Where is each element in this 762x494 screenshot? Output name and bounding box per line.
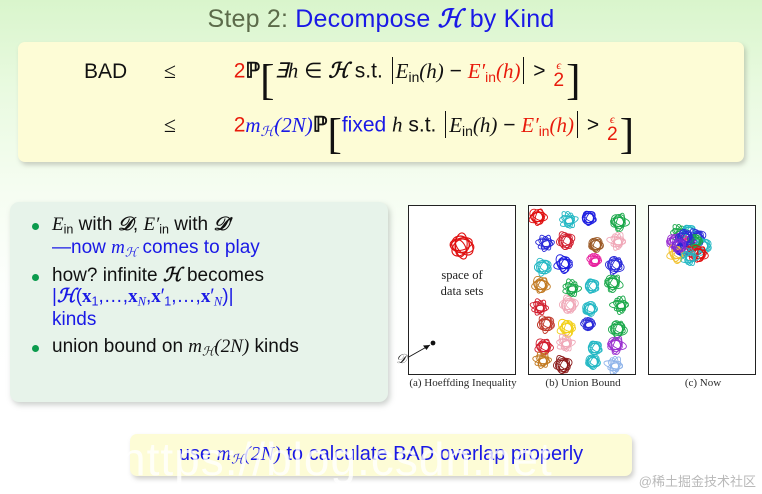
figure-b-box <box>528 205 636 375</box>
bullet-2-formula: |ℋ(x1,…,xN,x′1,…,x′N)| <box>52 286 378 309</box>
coefficient-1: 2 <box>234 60 246 83</box>
bullet-2-kinds: kinds <box>52 309 378 330</box>
title-step: Step 2: <box>208 5 289 33</box>
list-item: union bound on mℋ(2N) kinds <box>30 336 378 359</box>
figure-b-caption: (b) Union Bound <box>528 377 638 389</box>
figure-c-box <box>648 205 756 375</box>
equation-line-1: BAD ≤ 2ℙ[∃h ∈ ℋ s.t. Ein(h) − E′in(h) > … <box>84 56 581 105</box>
spacer-label <box>84 114 158 138</box>
page-title: Step 2: Decompose ℋ by Kind <box>0 4 762 34</box>
equation-panel: BAD ≤ 2ℙ[∃h ∈ ℋ s.t. Ein(h) − E′in(h) > … <box>18 42 744 162</box>
probability-symbol-2: ℙ <box>313 113 328 137</box>
title-main: Decompose ℋ by Kind <box>295 5 554 33</box>
dataset-d-prime: 𝒟′ <box>213 214 234 235</box>
dataset-d: 𝒟 <box>118 214 133 235</box>
figure-c-caption: (c) Now <box>648 377 758 389</box>
growth-function-inline: mℋ <box>111 237 137 258</box>
e-in-symbol: Ein <box>52 214 73 235</box>
abs-bar-open-2 <box>445 111 446 137</box>
figure-c: (c) Now <box>648 205 758 375</box>
minus-sign-2: − <box>503 114 515 137</box>
list-item: Ein with 𝒟, E′in with 𝒟′ —now mℋ comes t… <box>30 214 378 259</box>
figure-a-inner-text: space of data sets <box>409 268 515 299</box>
growth-function-summary: mℋ(2N) <box>217 443 281 465</box>
bullet-panel: Ein with 𝒟, E′in with 𝒟′ —now mℋ comes t… <box>10 202 388 402</box>
figure-strip: space of data sets (a) Hoeffding Inequal… <box>396 205 762 395</box>
fixed-keyword: fixed <box>342 114 386 137</box>
figure-a-caption: (a) Hoeffding Inequality <box>408 377 518 389</box>
figure-c-svg <box>649 206 755 374</box>
slide-canvas: Step 2: Decompose ℋ by Kind BAD ≤ 2ℙ[∃h … <box>0 0 762 494</box>
list-item: how? infinite ℋ becomes |ℋ(x1,…,xN,x′1,…… <box>30 265 378 330</box>
growth-function-2: mℋ(2N) <box>245 113 312 137</box>
epsilon-over-two-1: ϵ2 <box>551 59 566 90</box>
figure-a: space of data sets (a) Hoeffding Inequal… <box>408 205 518 375</box>
quantifier-1: ∃h <box>274 59 298 83</box>
bullet-list: Ein with 𝒟, E′in with 𝒟′ —now mℋ comes t… <box>10 202 388 359</box>
minus-sign-1: − <box>450 60 462 83</box>
bullet-2-text: how? infinite ℋ becomes <box>52 265 264 286</box>
watermark-corner: @稀土掘金技术社区 <box>639 471 756 490</box>
figure-a-axis-label: 𝒟 <box>396 351 406 367</box>
bad-label: BAD <box>84 60 158 84</box>
relation-symbol-2: ≤ <box>164 112 228 138</box>
e-in-prime-symbol: E′in <box>143 214 169 235</box>
figure-b-svg <box>529 206 635 374</box>
epsilon-over-two-2: ϵ2 <box>605 113 620 144</box>
e-in-term-2: Ein(h) <box>449 113 497 137</box>
probability-symbol-1: ℙ <box>245 59 260 83</box>
abs-bar-open-1 <box>392 57 393 83</box>
bullet-1-subline: —now mℋ comes to play <box>52 237 378 260</box>
coefficient-2: 2 <box>234 114 246 137</box>
greater-than-2: > <box>587 114 599 137</box>
sample-point <box>431 341 436 346</box>
equation-line-2: ≤ 2mℋ(2N)ℙ[fixed h s.t. Ein(h) − E′in(h)… <box>84 110 634 159</box>
e-in-prime-term-1: E′in(h) <box>468 59 521 83</box>
abs-bar-close-1 <box>523 57 524 83</box>
summary-text: use mℋ(2N) to calculate BAD overlap prop… <box>179 443 583 468</box>
figure-b: (b) Union Bound <box>528 205 638 375</box>
h-st-2: h <box>392 113 403 137</box>
relation-symbol-1: ≤ <box>164 58 228 84</box>
e-in-prime-term-2: E′in(h) <box>521 113 574 137</box>
e-in-term-1: Ein(h) <box>396 59 444 83</box>
greater-than-1: > <box>533 60 545 83</box>
figure-a-box: space of data sets <box>408 205 516 375</box>
growth-function-union: mℋ(2N) <box>188 336 249 357</box>
abs-bar-close-2 <box>577 111 578 137</box>
summary-panel: use mℋ(2N) to calculate BAD overlap prop… <box>130 434 632 476</box>
